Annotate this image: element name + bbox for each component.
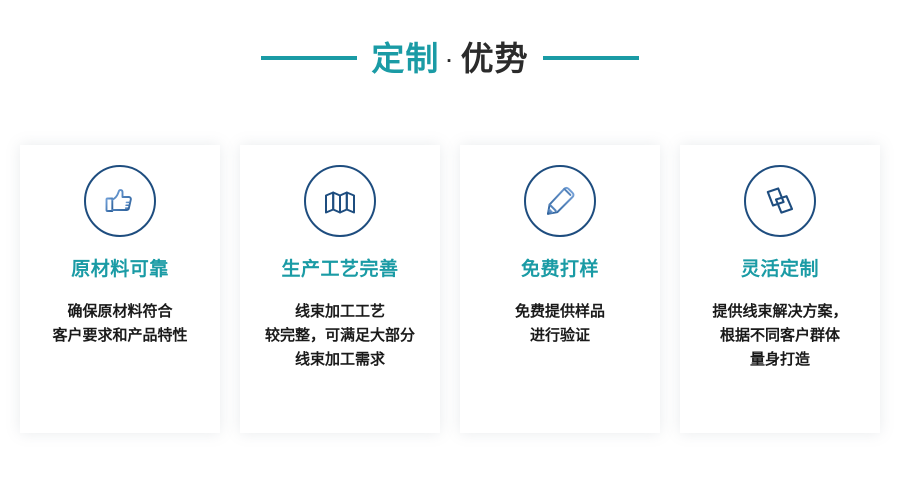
heading-separator: ·: [439, 52, 460, 71]
heading-rule-right: [543, 56, 639, 60]
card-title: 免费打样: [521, 259, 599, 282]
thumbs-up-icon: [101, 182, 139, 220]
pencil-icon: [541, 182, 579, 220]
card-body: 确保原材料符合 客户要求和产品特性: [46, 300, 193, 348]
card-body-line: 进行验证: [515, 324, 605, 348]
stacked-cards-icon: [761, 182, 799, 220]
feature-card[interactable]: 生产工艺完善 线束加工工艺 较完整，可满足大部分 线束加工需求: [240, 145, 440, 433]
card-body-line: 确保原材料符合: [52, 300, 187, 324]
icon-circle: [524, 165, 596, 237]
card-title: 生产工艺完善: [281, 259, 398, 282]
page-title: 定制 · 优势: [371, 42, 528, 75]
icon-circle: [304, 165, 376, 237]
card-body-line: 较完整，可满足大部分: [265, 324, 415, 348]
card-body-line: 客户要求和产品特性: [52, 324, 187, 348]
feature-card[interactable]: 原材料可靠 确保原材料符合 客户要求和产品特性: [20, 145, 220, 433]
card-body-line: 根据不同客户群体: [712, 324, 847, 348]
icon-circle: [744, 165, 816, 237]
card-body-line: 线束加工需求: [265, 348, 415, 372]
folded-map-icon: [321, 182, 359, 220]
heading-primary-text: 定制: [371, 42, 439, 75]
card-body-line: 提供线束解决方案，: [712, 300, 847, 324]
card-body-line: 线束加工工艺: [265, 300, 415, 324]
card-body-line: 量身打造: [712, 348, 847, 372]
card-title: 灵活定制: [741, 259, 819, 282]
card-title: 原材料可靠: [71, 259, 169, 282]
feature-card-row: 原材料可靠 确保原材料符合 客户要求和产品特性 生产工艺完善 线束加工工艺: [20, 145, 880, 433]
card-body-line: 免费提供样品: [515, 300, 605, 324]
card-body: 免费提供样品 进行验证: [509, 300, 611, 348]
feature-card[interactable]: 免费打样 免费提供样品 进行验证: [460, 145, 660, 433]
heading-rule-left: [261, 56, 357, 60]
card-body: 线束加工工艺 较完整，可满足大部分 线束加工需求: [259, 300, 421, 372]
feature-card[interactable]: 灵活定制 提供线束解决方案， 根据不同客户群体 量身打造: [680, 145, 880, 433]
section-heading: 定制 · 优势: [0, 30, 900, 86]
icon-circle: [84, 165, 156, 237]
card-body: 提供线束解决方案， 根据不同客户群体 量身打造: [706, 300, 853, 372]
heading-secondary-text: 优势: [461, 42, 529, 75]
